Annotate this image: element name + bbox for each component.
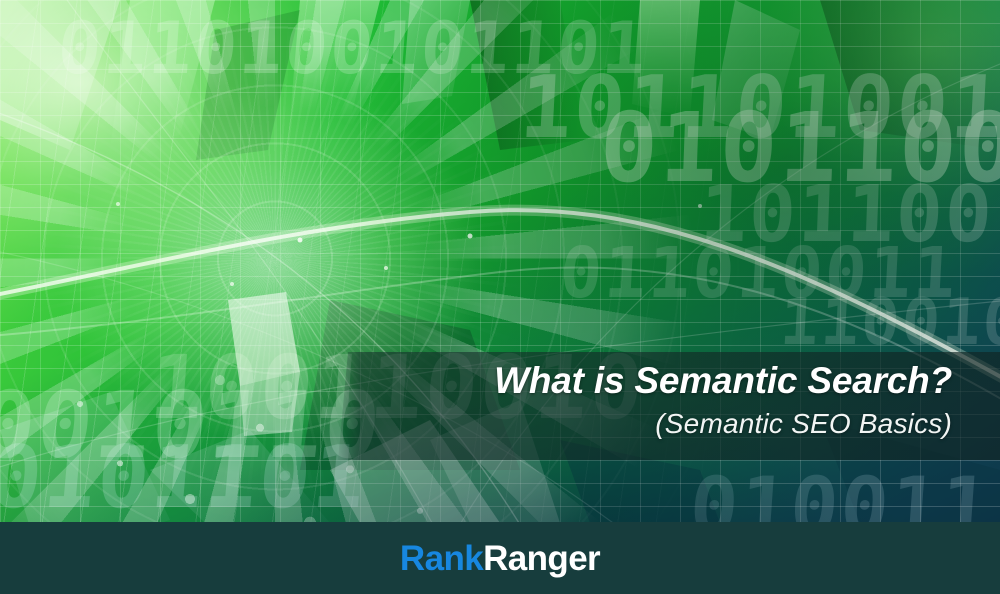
- logo-text-rank: Rank: [400, 539, 483, 578]
- background-vignette: [0, 0, 1000, 594]
- rankranger-logo[interactable]: RankRanger: [400, 541, 600, 576]
- page-subtitle: (Semantic SEO Basics): [312, 404, 952, 444]
- logo-text-ranger: Ranger: [483, 539, 600, 578]
- page-title: What is Semantic Search?: [312, 358, 952, 404]
- article-hero-banner: 0110100101101101101001011010010110011011…: [0, 0, 1000, 594]
- hero-title-block: What is Semantic Search? (Semantic SEO B…: [312, 358, 952, 444]
- footer-bar: RankRanger: [0, 522, 1000, 594]
